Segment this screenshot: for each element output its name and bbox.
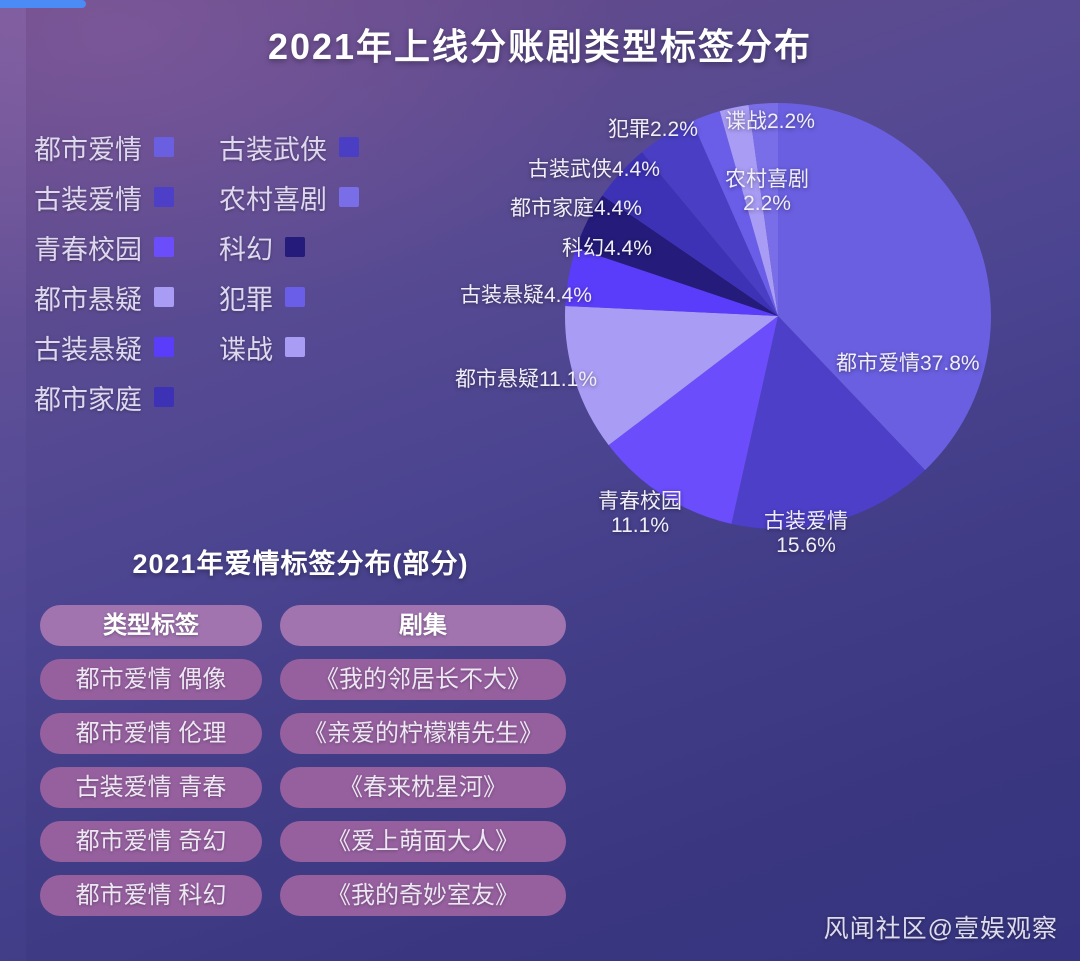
legend-color-swatch <box>154 237 174 257</box>
legend-color-swatch <box>285 287 305 307</box>
legend-item-label: 古装爱情 <box>34 178 142 217</box>
pie-label-costume-wuxia: 古装武侠4.4% <box>528 158 660 182</box>
legend-row: 古装悬疑谍战 <box>34 322 434 372</box>
table-header-cell: 剧集 <box>280 605 566 646</box>
legend-item-谍战: 谍战 <box>219 328 419 367</box>
table-cell-tag: 都市爱情 伦理 <box>40 713 262 754</box>
pie-label-urban-family: 都市家庭4.4% <box>510 197 642 221</box>
left-edge-strip <box>0 0 26 961</box>
legend-row: 都市家庭 <box>34 372 434 422</box>
pie-label-urban-romance: 都市爱情37.8% <box>836 352 980 376</box>
legend-item-古装爱情: 古装爱情 <box>34 178 219 217</box>
table-header-cell: 类型标签 <box>40 605 262 646</box>
legend-color-swatch <box>154 337 174 357</box>
legend: 都市爱情古装武侠古装爱情农村喜剧青春校园科幻都市悬疑犯罪古装悬疑谍战都市家庭 <box>34 122 434 422</box>
table-cell-title: 《我的邻居长不大》 <box>280 659 566 700</box>
pie-label-line: 都市悬疑11.1% <box>455 368 597 392</box>
table-cell-tag: 都市爱情 奇幻 <box>40 821 262 862</box>
legend-color-swatch <box>339 187 359 207</box>
pie-label-line: 科幻4.4% <box>562 237 652 261</box>
legend-item-label: 都市悬疑 <box>34 278 142 317</box>
legend-row: 都市悬疑犯罪 <box>34 272 434 322</box>
pie-label-costume-mystery: 古装悬疑4.4% <box>460 284 592 308</box>
legend-item-青春校园: 青春校园 <box>34 228 219 267</box>
legend-item-犯罪: 犯罪 <box>219 278 419 317</box>
infographic-canvas: 2021年上线分账剧类型标签分布 都市爱情古装武侠古装爱情农村喜剧青春校园科幻都… <box>0 0 1080 961</box>
table-cell-tag: 都市爱情 科幻 <box>40 875 262 916</box>
legend-item-label: 科幻 <box>219 228 273 267</box>
legend-item-label: 古装武侠 <box>219 128 327 167</box>
pie-label-line: 谍战2.2% <box>725 110 815 134</box>
pie-label-value: 15.6% <box>764 534 848 558</box>
pie-label-sci-fi: 科幻4.4% <box>562 237 652 261</box>
legend-item-label: 古装悬疑 <box>34 328 142 367</box>
watermark: 风闻社区@壹娱观察 <box>824 909 1058 945</box>
pie-label-campus-youth: 青春校园11.1% <box>598 490 682 539</box>
table-row: 都市爱情 奇幻《爱上萌面大人》 <box>40 821 575 862</box>
pie-chart: 犯罪2.2%谍战2.2%古装武侠4.4%农村喜剧2.2%都市家庭4.4%科幻4.… <box>540 80 1040 560</box>
progress-bar[interactable] <box>0 0 86 8</box>
pie-label-line: 都市爱情37.8% <box>836 352 980 376</box>
table-cell-title: 《春来枕星河》 <box>280 767 566 808</box>
legend-item-都市家庭: 都市家庭 <box>34 378 219 417</box>
table-header-row: 类型标签剧集 <box>40 605 575 646</box>
legend-item-label: 农村喜剧 <box>219 178 327 217</box>
pie-label-line: 农村喜剧 <box>725 168 809 192</box>
legend-item-都市悬疑: 都市悬疑 <box>34 278 219 317</box>
pie-label-line: 古装悬疑4.4% <box>460 284 592 308</box>
pie-label-crime: 犯罪2.2% <box>608 118 698 142</box>
legend-color-swatch <box>154 137 174 157</box>
legend-item-科幻: 科幻 <box>219 228 419 267</box>
pie-label-line: 都市家庭4.4% <box>510 197 642 221</box>
legend-item-label: 都市家庭 <box>34 378 142 417</box>
legend-item-古装武侠: 古装武侠 <box>219 128 419 167</box>
legend-item-label: 谍战 <box>219 328 273 367</box>
table-title: 2021年爱情标签分布(部分) <box>28 542 573 581</box>
pie-label-urban-mystery: 都市悬疑11.1% <box>455 368 597 392</box>
table-cell-tag: 都市爱情 偶像 <box>40 659 262 700</box>
pie-label-costume-romance: 古装爱情15.6% <box>764 510 848 559</box>
legend-color-swatch <box>339 137 359 157</box>
legend-row: 青春校园科幻 <box>34 222 434 272</box>
pie-label-line: 古装武侠4.4% <box>528 158 660 182</box>
legend-color-swatch <box>154 187 174 207</box>
table-row: 都市爱情 科幻《我的奇妙室友》 <box>40 875 575 916</box>
pie-label-spy-war: 谍战2.2% <box>725 110 815 134</box>
legend-item-都市爱情: 都市爱情 <box>34 128 219 167</box>
table-row: 都市爱情 偶像《我的邻居长不大》 <box>40 659 575 700</box>
legend-item-农村喜剧: 农村喜剧 <box>219 178 419 217</box>
legend-color-swatch <box>285 237 305 257</box>
legend-color-swatch <box>154 287 174 307</box>
pie-label-line: 青春校园 <box>598 490 682 514</box>
legend-item-label: 都市爱情 <box>34 128 142 167</box>
table-row: 古装爱情 青春《春来枕星河》 <box>40 767 575 808</box>
legend-row: 古装爱情农村喜剧 <box>34 172 434 222</box>
table-cell-title: 《我的奇妙室友》 <box>280 875 566 916</box>
legend-item-label: 青春校园 <box>34 228 142 267</box>
pie-label-value: 2.2% <box>725 192 809 216</box>
table-row: 都市爱情 伦理《亲爱的柠檬精先生》 <box>40 713 575 754</box>
legend-item-label: 犯罪 <box>219 278 273 317</box>
pie-label-value: 11.1% <box>598 514 682 538</box>
legend-color-swatch <box>285 337 305 357</box>
pie-label-line: 犯罪2.2% <box>608 118 698 142</box>
legend-row: 都市爱情古装武侠 <box>34 122 434 172</box>
legend-item-古装悬疑: 古装悬疑 <box>34 328 219 367</box>
page-title: 2021年上线分账剧类型标签分布 <box>0 18 1080 70</box>
table-cell-title: 《亲爱的柠檬精先生》 <box>280 713 566 754</box>
pie-label-rural-comedy: 农村喜剧2.2% <box>725 168 809 217</box>
legend-color-swatch <box>154 387 174 407</box>
tag-table: 类型标签剧集都市爱情 偶像《我的邻居长不大》都市爱情 伦理《亲爱的柠檬精先生》古… <box>40 605 575 929</box>
pie-label-line: 古装爱情 <box>764 510 848 534</box>
table-cell-title: 《爱上萌面大人》 <box>280 821 566 862</box>
table-cell-tag: 古装爱情 青春 <box>40 767 262 808</box>
pie-chart-svg <box>540 80 1040 560</box>
